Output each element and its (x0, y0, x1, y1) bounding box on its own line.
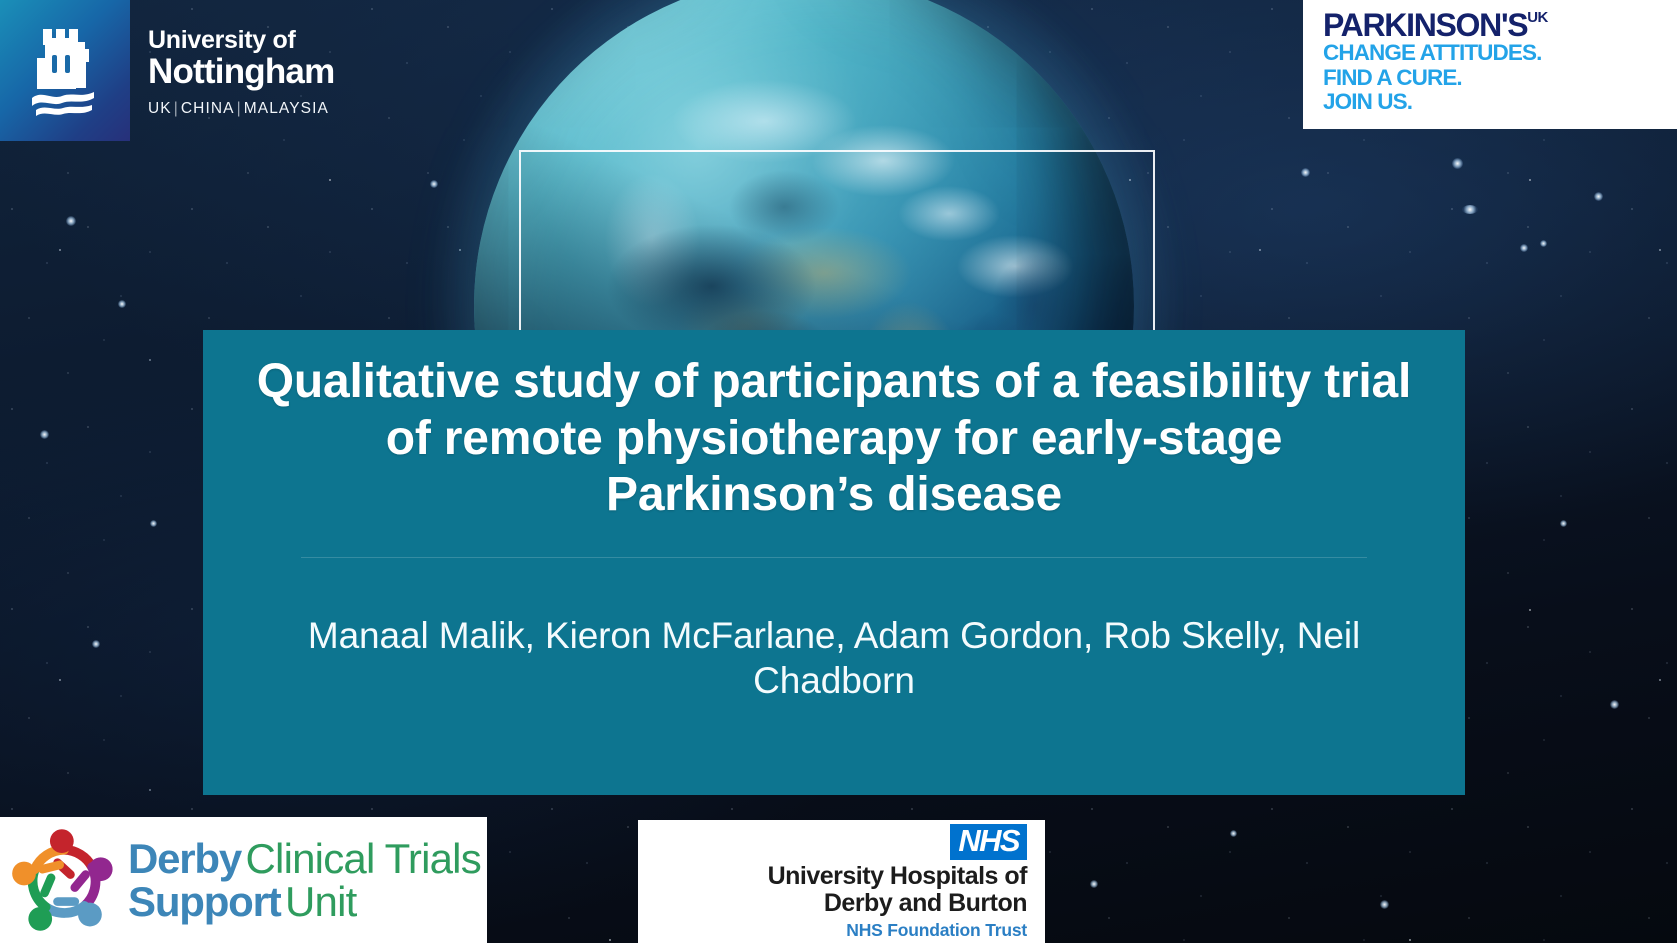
page-title: Qualitative study of participants of a f… (247, 354, 1421, 524)
ctsu-line-2: Support Unit (128, 880, 481, 923)
star-glow (1301, 168, 1310, 177)
nottingham-crest-box (0, 0, 130, 141)
derby-ctsu-wordmark: Derby Clinical Trials Support Unit (118, 837, 481, 924)
campus-separator: | (172, 100, 181, 117)
parkinsons-brand-line: PARKINSON'S UK (1323, 9, 1659, 41)
star-glow (150, 520, 157, 527)
nhs-uhdb-logo: NHS University Hospitals of Derby and Bu… (638, 820, 1045, 943)
star-glow (1560, 520, 1567, 527)
authors-list: Manaal Malik, Kieron McFarlane, Adam Gor… (249, 613, 1419, 703)
nhs-foundation-trust-line: NHS Foundation Trust (846, 920, 1027, 941)
parkinsons-name: PARKINSON'S (1323, 9, 1527, 41)
nottingham-line-nottingham: Nottingham (148, 54, 388, 90)
star-glow (92, 640, 100, 648)
derby-ctsu-logo: Derby Clinical Trials Support Unit (0, 817, 487, 943)
ctsu-word-clinical-trials: Clinical Trials (246, 835, 481, 882)
people-circle-icon (10, 826, 118, 934)
star-glow (1462, 205, 1478, 214)
star-glow (40, 430, 49, 439)
uhdb-line-2: Derby and Burton (824, 890, 1027, 918)
uhdb-line-1: University Hospitals of (768, 863, 1027, 891)
parkinsons-strapline-2: FIND A CURE. (1323, 66, 1659, 91)
ctsu-line-1: Derby Clinical Trials (128, 837, 481, 880)
star-glow (66, 216, 76, 226)
star-glow (1594, 192, 1603, 201)
university-of-nottingham-logo: University of Nottingham UK|CHINA|MALAYS… (0, 0, 388, 141)
ctsu-word-derby: Derby (128, 835, 241, 882)
star-glow (1090, 880, 1098, 888)
parkinsons-strapline-1: CHANGE ATTITUDES. (1323, 41, 1659, 66)
nottingham-line-university-of: University of (148, 27, 388, 53)
star-glow (1520, 244, 1528, 252)
star-glow (430, 180, 438, 188)
campus-china: CHINA (181, 100, 235, 117)
nottingham-wordmark: University of Nottingham UK|CHINA|MALAYS… (130, 0, 388, 141)
star-glow (1380, 900, 1389, 909)
title-slide: Qualitative study of participants of a f… (0, 0, 1677, 943)
title-panel: Qualitative study of participants of a f… (203, 330, 1465, 795)
campus-uk: UK (148, 100, 172, 117)
nottingham-castle-crest-icon (28, 22, 102, 120)
nottingham-campuses: UK|CHINA|MALAYSIA (148, 100, 388, 118)
campus-separator: | (235, 100, 244, 117)
parkinsons-uk-superscript: UK (1527, 10, 1547, 25)
nhs-logo-mark: NHS (950, 824, 1027, 860)
ctsu-word-unit: Unit (285, 878, 357, 925)
title-region: Qualitative study of participants of a f… (203, 330, 1465, 524)
star-glow (1540, 240, 1547, 247)
people-circle-icon-svg (10, 826, 118, 934)
star-glow (1230, 830, 1237, 837)
authors-region: Manaal Malik, Kieron McFarlane, Adam Gor… (203, 558, 1465, 795)
star-glow (1610, 700, 1619, 709)
ctsu-word-support: Support (128, 878, 281, 925)
parkinsons-strapline-3: JOIN US. (1323, 90, 1659, 115)
star-glow (1452, 158, 1463, 169)
campus-malaysia: MALAYSIA (244, 100, 329, 117)
star-glow (118, 300, 126, 308)
parkinsons-uk-logo: PARKINSON'S UK CHANGE ATTITUDES. FIND A … (1303, 0, 1677, 129)
